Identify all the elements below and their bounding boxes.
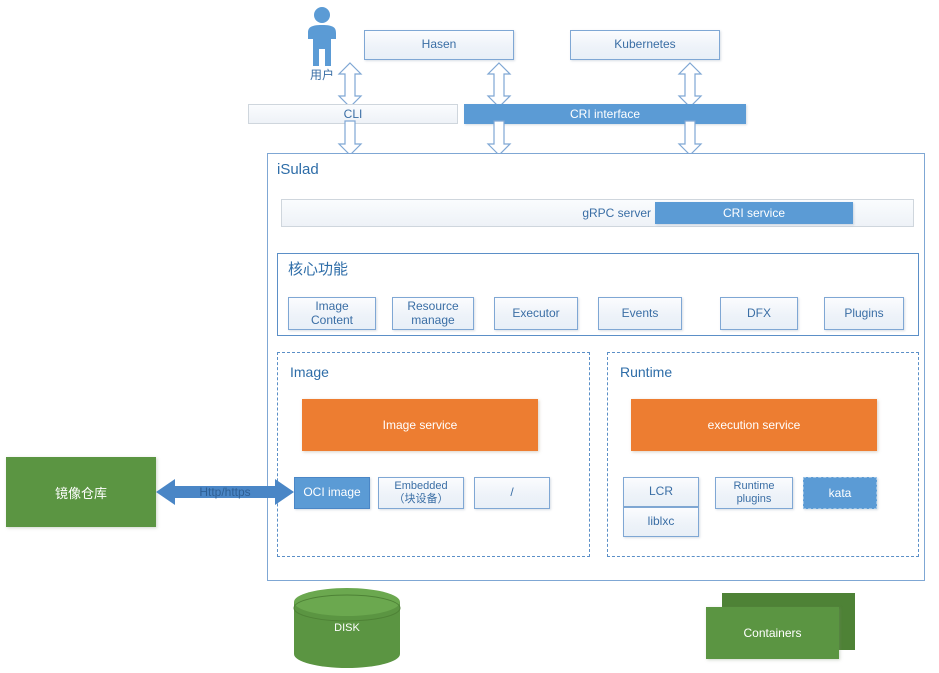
runtime-backend-kata[interactable]: kata xyxy=(803,477,877,509)
containers-label: Containers xyxy=(743,626,801,640)
arrow-user-to-cli xyxy=(337,62,363,108)
grpc-server-label: gRPC server xyxy=(582,206,651,220)
image-backend-oci[interactable]: OCI image xyxy=(294,477,370,509)
client-label: Hasen xyxy=(422,38,457,52)
core-item-label: Executor xyxy=(512,307,559,321)
arrow-cri-to-isulad-right xyxy=(677,120,703,156)
cri-service-block[interactable]: CRI service xyxy=(655,202,853,224)
grpc-server-bar: gRPC server CRI service xyxy=(281,199,914,227)
core-item-events[interactable]: Events xyxy=(598,297,682,330)
image-backend-root[interactable]: / xyxy=(474,477,550,509)
core-item-label: Image Content xyxy=(311,300,353,328)
arrow-cri-to-isulad-left xyxy=(486,120,512,156)
runtime-backend-plugins[interactable]: Runtime plugins xyxy=(715,477,793,509)
cri-service-label: CRI service xyxy=(723,206,785,220)
core-functions-title: 核心功能 xyxy=(288,258,348,279)
arrow-kubernetes-to-cri xyxy=(677,62,703,108)
http-protocol-label: Http/https xyxy=(155,474,295,510)
arrow-hasen-to-cri xyxy=(486,62,512,108)
client-label: Kubernetes xyxy=(614,38,675,52)
core-item-label: Plugins xyxy=(844,307,883,321)
runtime-backend-label: kata xyxy=(829,486,852,500)
image-service-block[interactable]: Image service xyxy=(302,399,538,451)
image-backend-embedded[interactable]: Embedded （块设备） xyxy=(378,477,464,509)
isulad-title: iSulad xyxy=(277,161,319,178)
runtime-panel-title: Runtime xyxy=(620,364,672,380)
image-registry-box[interactable]: 镜像仓库 xyxy=(6,457,156,527)
disk-label: DISK xyxy=(292,588,402,668)
arrow-cli-to-isulad xyxy=(337,120,363,156)
core-item-label: Events xyxy=(622,307,659,321)
client-box-hasen[interactable]: Hasen xyxy=(364,30,514,60)
core-item-label: DFX xyxy=(747,307,771,321)
image-panel xyxy=(277,352,590,557)
image-registry-label: 镜像仓库 xyxy=(55,483,107,502)
core-item-dfx[interactable]: DFX xyxy=(720,297,798,330)
image-backend-label: OCI image xyxy=(303,486,360,500)
runtime-backend-liblxc[interactable]: liblxc xyxy=(623,507,699,537)
interface-label: CRI interface xyxy=(570,107,640,121)
runtime-backend-label: liblxc xyxy=(648,515,675,529)
core-item-label: Resource manage xyxy=(407,300,458,328)
http-protocol-text: Http/https xyxy=(199,485,250,499)
core-item-plugins[interactable]: Plugins xyxy=(824,297,904,330)
image-backend-label: / xyxy=(510,486,513,500)
disk-text: DISK xyxy=(334,622,360,634)
core-item-resource-manage[interactable]: Resource manage xyxy=(392,297,474,330)
person-icon xyxy=(300,6,344,68)
core-item-image-content[interactable]: Image Content xyxy=(288,297,376,330)
execution-service-label: execution service xyxy=(708,418,801,432)
runtime-backend-label: Runtime plugins xyxy=(734,480,775,505)
interface-label: CLI xyxy=(344,107,363,121)
core-item-executor[interactable]: Executor xyxy=(494,297,578,330)
image-backend-label: Embedded （块设备） xyxy=(394,480,449,505)
runtime-backend-lcr[interactable]: LCR xyxy=(623,477,699,507)
runtime-backend-label: LCR xyxy=(649,485,673,499)
image-panel-title: Image xyxy=(290,364,329,380)
execution-service-block[interactable]: execution service xyxy=(631,399,877,451)
image-service-label: Image service xyxy=(383,418,458,432)
containers-box-front[interactable]: Containers xyxy=(706,607,839,659)
client-box-kubernetes[interactable]: Kubernetes xyxy=(570,30,720,60)
